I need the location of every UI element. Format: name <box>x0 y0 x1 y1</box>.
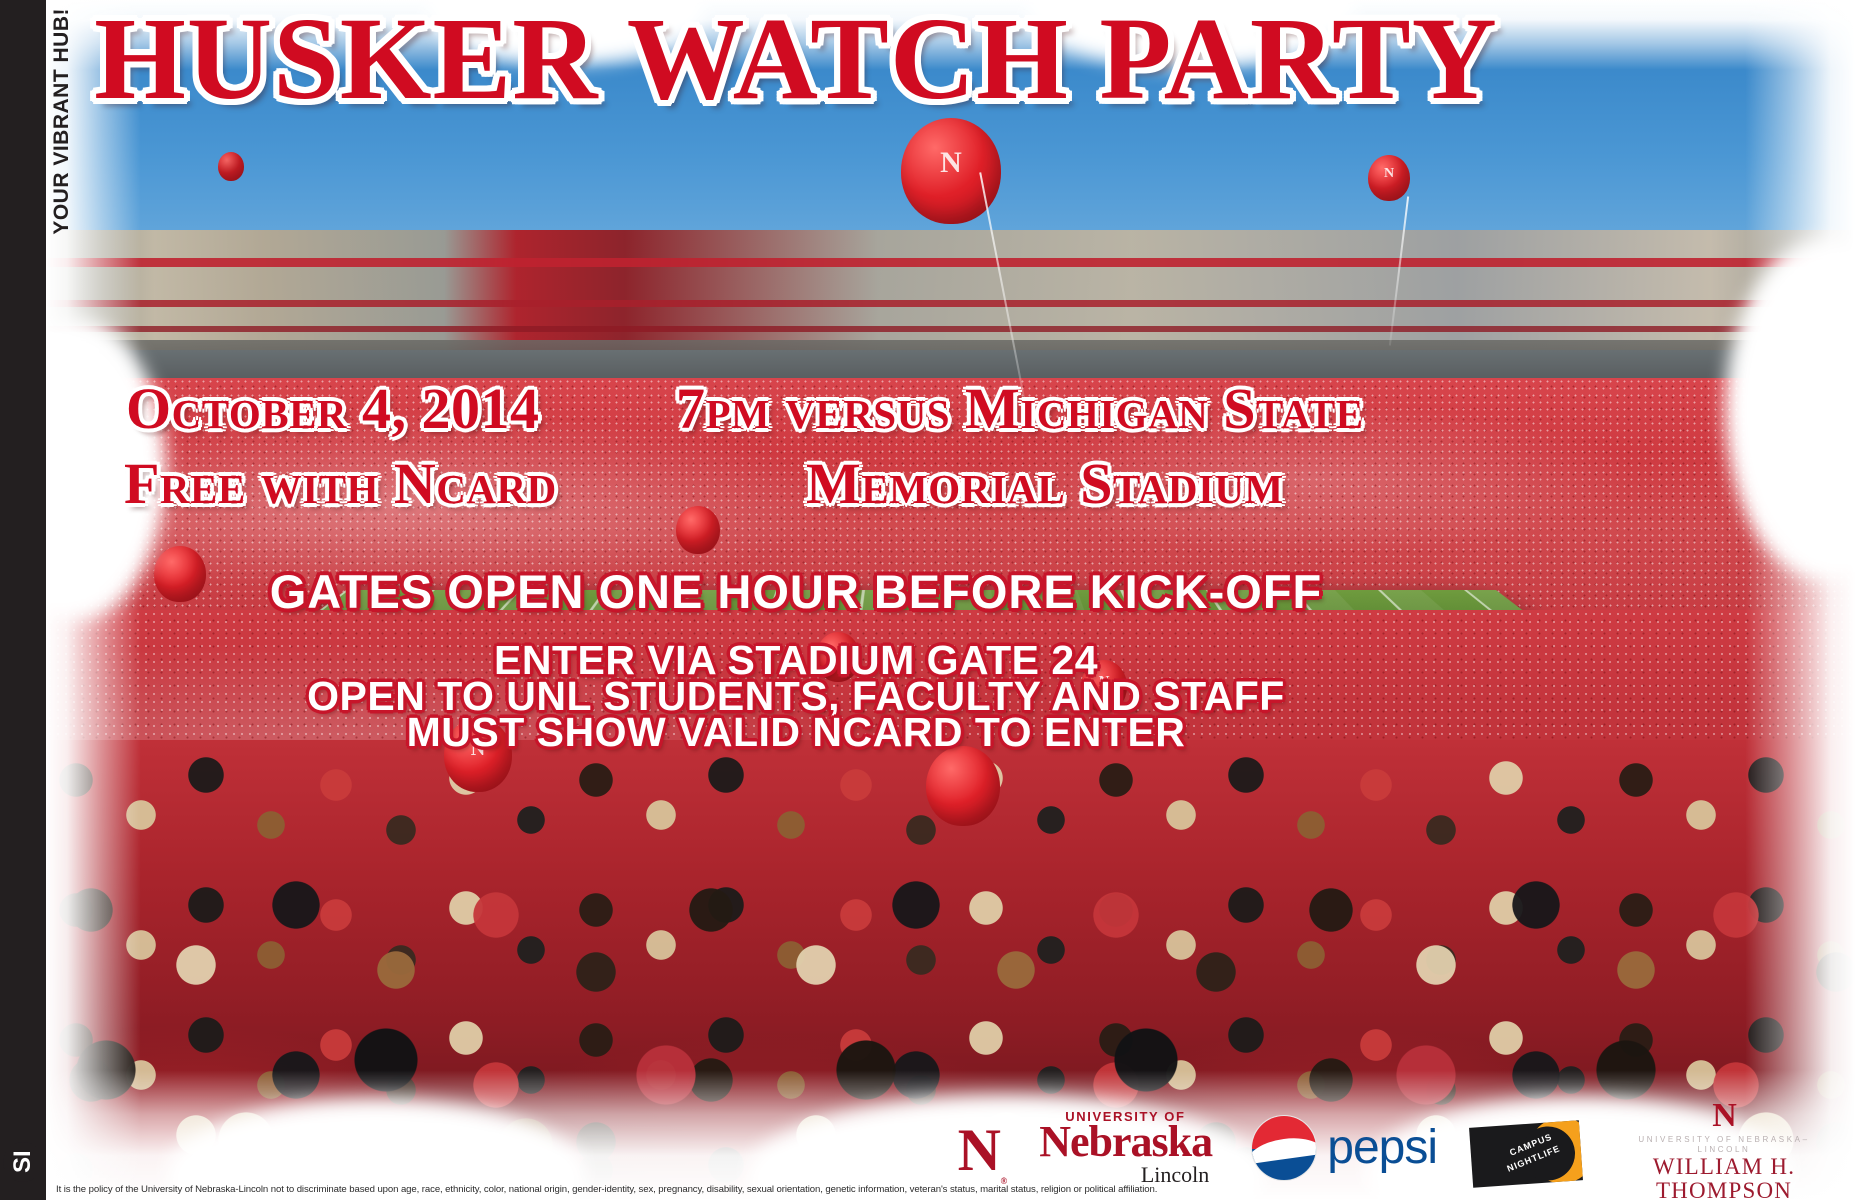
event-time-opponent: 7pm versus Michigan State <box>676 380 1364 438</box>
nebraska-wordmark: Nebraska <box>1039 1120 1212 1164</box>
poster-text-overlay: HUSKER WATCH PARTY October 4, 2014 7pm v… <box>46 0 1855 1200</box>
si-badge-logo: SI <box>3 1142 43 1182</box>
student-involvement-sidebar <box>0 0 46 1200</box>
university-of-nebraska-lincoln-logo: UNIVERSITY OF Nebraska Lincoln <box>1039 1108 1217 1184</box>
campus-nightlife-logo: CAMPUS NIGHTLIFE <box>1469 1120 1583 1188</box>
event-venue: Memorial Stadium <box>806 455 1284 513</box>
nondiscrimination-disclaimer: It is the policy of the University of Ne… <box>56 1184 1157 1196</box>
thompson-university-label: UNIVERSITY OF NEBRASKA–LINCOLN <box>1615 1135 1833 1155</box>
thompson-n-glyph: N <box>1615 1100 1833 1132</box>
letter-n-glyph: N <box>951 1122 1005 1180</box>
sponsor-logo-strip: N ® UNIVERSITY OF Nebraska Lincoln pepsi… <box>46 1098 1855 1184</box>
sidebar-tagline: YOUR VIBRANT HUB! <box>50 8 74 235</box>
page-title: HUSKER WATCH PARTY <box>46 0 1546 118</box>
thompson-name: WILLIAM H. THOMPSON <box>1615 1155 1833 1200</box>
poster-canvas: N N N N <box>0 0 1855 1200</box>
ncard-notice: MUST SHOW VALID NCARD TO ENTER <box>46 712 1546 753</box>
pepsi-wordmark: pepsi <box>1327 1124 1437 1172</box>
pepsi-logo: pepsi <box>1251 1112 1437 1184</box>
event-date: October 4, 2014 <box>126 380 540 438</box>
event-price: Free with Ncard <box>124 455 557 513</box>
lincoln-label: Lincoln <box>1141 1164 1209 1186</box>
nebraska-n-logo: N ® <box>951 1122 1005 1184</box>
pepsi-globe-icon <box>1251 1115 1317 1181</box>
sidebar-background <box>0 0 46 1200</box>
gates-notice: GATES OPEN ONE HOUR BEFORE KICK-OFF <box>46 568 1546 615</box>
william-h-thompson-logo: N UNIVERSITY OF NEBRASKA–LINCOLN WILLIAM… <box>1615 1100 1833 1184</box>
si-badge-label: SI <box>3 1142 43 1182</box>
